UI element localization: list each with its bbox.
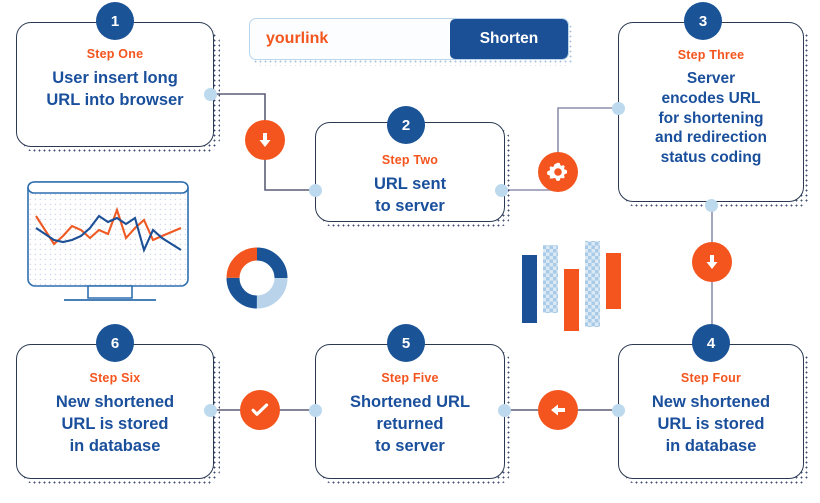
arrow-down-icon-step1-step2[interactable] [245, 120, 285, 160]
floating-bar-chart-illustration [518, 235, 624, 341]
step-body-line: in database [17, 436, 213, 458]
connector-node-step3-left [612, 102, 625, 115]
step-body-line: URL is stored [619, 414, 803, 436]
step-body-line: encodes URL [619, 89, 803, 109]
card-step-6[interactable]: Step Six New shortened URL is stored in … [16, 344, 214, 479]
step-label-6: Step Six [17, 371, 213, 385]
step-body-line: to server [316, 196, 504, 218]
step-body-line: returned [316, 414, 504, 436]
infographic-canvas: Step One User insert long URL into brows… [0, 0, 820, 503]
check-icon-step5-step6[interactable] [240, 390, 280, 430]
card-step-1[interactable]: Step One User insert long URL into brows… [16, 22, 214, 147]
search-input[interactable]: yourlink [250, 19, 450, 59]
arrow-down-icon [255, 130, 275, 150]
card-step-3[interactable]: Step Three Server encodes URL for shorte… [618, 22, 804, 202]
step-label-3: Step Three [619, 48, 803, 62]
step-label-4: Step Four [619, 371, 803, 385]
step-label-5: Step Five [316, 371, 504, 385]
bar-1 [522, 255, 537, 323]
connector-node-step2-right [495, 184, 508, 197]
arrow-down-icon-step3-step4[interactable] [692, 242, 732, 282]
connector-node-step6-right [204, 404, 217, 417]
monitor-line-chart-illustration [14, 178, 204, 310]
step-badge-5: 5 [387, 324, 425, 362]
gear-icon-step2-step3[interactable] [538, 152, 578, 192]
step-body-line: Shortened URL [316, 392, 504, 414]
gear-icon [547, 161, 569, 183]
step-body-4: New shortened URL is stored in database [619, 392, 803, 457]
step-body-line: to server [316, 436, 504, 458]
step-body-line: for shortening [619, 109, 803, 129]
connector-node-step3-bottom [705, 199, 718, 212]
check-icon [249, 399, 271, 421]
donut-chart-illustration [222, 243, 292, 313]
step-body-line: New shortened [17, 392, 213, 414]
arrow-left-icon [548, 400, 568, 420]
step-badge-4: 4 [692, 324, 730, 362]
monitor-bezel [28, 182, 188, 193]
bar-5 [606, 253, 621, 309]
step-body-1: User insert long URL into browser [17, 68, 213, 112]
step-badge-3: 3 [684, 2, 722, 40]
url-shortener-bar[interactable]: yourlink Shorten [249, 18, 569, 60]
step-body-line: URL sent [316, 174, 504, 196]
step-body-line: status coding [619, 148, 803, 168]
step-body-6: New shortened URL is stored in database [17, 392, 213, 457]
connector-node-step5-right [498, 404, 511, 417]
step-body-line: New shortened [619, 392, 803, 414]
step-body-2: URL sent to server [316, 174, 504, 218]
step-badge-2: 2 [387, 106, 425, 144]
arrow-left-icon-step4-step5[interactable] [538, 390, 578, 430]
step-body-line: in database [619, 436, 803, 458]
step-body-line: URL is stored [17, 414, 213, 436]
connector-node-step5-left [309, 404, 322, 417]
connector-node-step1-right [204, 88, 217, 101]
step-badge-1: 1 [96, 2, 134, 40]
step-body-line: and redirection [619, 128, 803, 148]
step-label-1: Step One [17, 47, 213, 61]
step-body-line: User insert long [17, 68, 213, 90]
connector-node-step4-left [612, 404, 625, 417]
step-body-3: Server encodes URL for shortening and re… [619, 69, 803, 168]
arrow-down-icon [702, 252, 722, 272]
bar-2 [543, 245, 558, 313]
bar-3 [564, 269, 579, 331]
card-step-4[interactable]: Step Four New shortened URL is stored in… [618, 344, 804, 479]
shorten-button[interactable]: Shorten [450, 19, 568, 59]
step-body-line: Server [619, 69, 803, 89]
connector-node-step2-left [309, 184, 322, 197]
card-step-5[interactable]: Step Five Shortened URL returned to serv… [315, 344, 505, 479]
step-label-2: Step Two [316, 153, 504, 167]
step-body-5: Shortened URL returned to server [316, 392, 504, 457]
step-body-line: URL into browser [17, 90, 213, 112]
monitor-neck [88, 286, 132, 298]
bar-4 [585, 241, 600, 327]
step-badge-6: 6 [96, 324, 134, 362]
